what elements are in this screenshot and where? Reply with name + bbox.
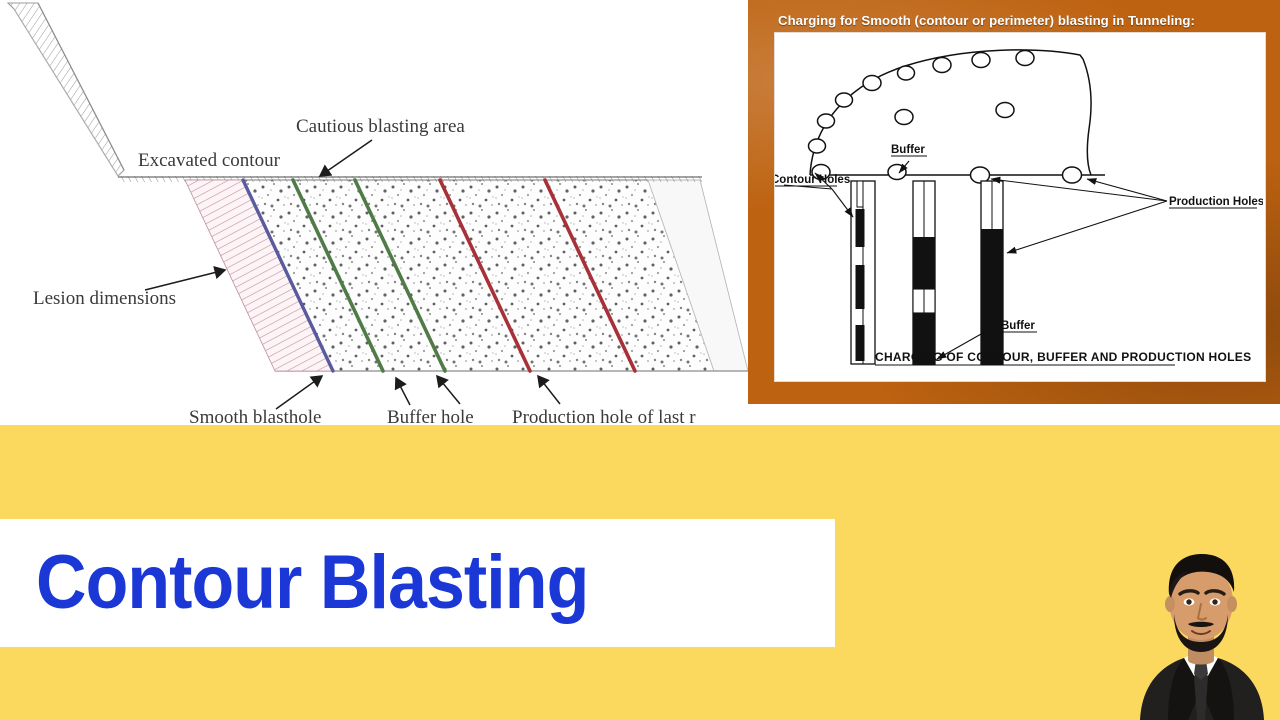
label-excavated-contour: Excavated contour: [138, 150, 281, 171]
label-production-holes: Production Holes: [1169, 196, 1263, 208]
charging-leaders: [784, 161, 1167, 359]
label-buffer-top: Buffer: [891, 144, 925, 156]
buffer-hole-charge: [913, 181, 935, 364]
slide-canvas: Cautious blasting area Excavated contour…: [0, 0, 1280, 720]
charging-diagram-caption: CHARGING OF CONTOUR, BUFFER AND PRODUCTI…: [875, 350, 1251, 364]
left-figure-container: Cautious blasting area Excavated contour…: [0, 0, 748, 425]
bench-blasting-figure: Cautious blasting area Excavated contour…: [0, 0, 748, 425]
title-card: Contour Blasting: [0, 519, 835, 647]
page-title: Contour Blasting: [36, 545, 588, 621]
label-buffer-bottom: Buffer: [1001, 320, 1035, 332]
top-content-area: Cautious blasting area Excavated contour…: [0, 0, 1280, 425]
charging-labels: Contour Holes Buffer Production Holes Bu…: [775, 144, 1263, 365]
right-slide-panel: Charging for Smooth (contour or perimete…: [748, 0, 1280, 404]
charging-diagram-canvas: Contour Holes Buffer Production Holes Bu…: [774, 32, 1266, 382]
label-cautious-blasting-area: Cautious blasting area: [296, 116, 465, 137]
label-lesion-dimensions: Lesion dimensions: [33, 288, 176, 309]
contour-hole-charge: [851, 181, 875, 364]
label-contour-holes: Contour Holes: [775, 174, 850, 186]
production-hole-charge: [981, 181, 1003, 364]
face-hole-circles: [809, 51, 1082, 184]
charging-of-holes-drawing: Contour Holes Buffer Production Holes Bu…: [775, 33, 1263, 379]
excavated-slope: [8, 3, 124, 176]
label-smooth-blasthole: Smooth blasthole: [189, 407, 321, 425]
presenter-illustration: [1122, 528, 1280, 720]
label-production-hole: Production hole of last r: [512, 407, 696, 425]
presenter-portrait: [1122, 528, 1280, 720]
right-panel-title: Charging for Smooth (contour or perimete…: [778, 13, 1258, 28]
label-buffer-hole: Buffer hole: [387, 407, 474, 425]
